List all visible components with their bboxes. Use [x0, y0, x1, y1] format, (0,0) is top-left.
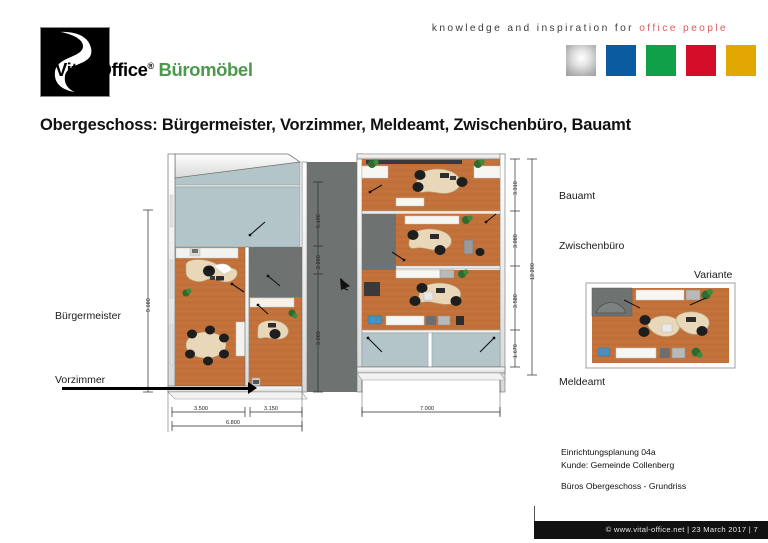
- label-variante: Variante: [694, 269, 732, 281]
- dim-corridor-2: 2.200: [316, 255, 322, 269]
- room-empty-lower-right: [362, 333, 500, 367]
- dim-bottom-3500: 3.500: [194, 406, 208, 412]
- dim-bottom-7000: 7.000: [420, 406, 434, 412]
- dim-corridor-1: 5.190: [316, 214, 322, 228]
- brand-swatch-row: [566, 45, 756, 76]
- logo-word-bueromoebel: Büromöbel: [159, 59, 253, 80]
- dim-bottom-total: 6.800: [226, 420, 240, 426]
- swatch-silver: [566, 45, 596, 76]
- dim-zwischenbuero: 3.080: [513, 234, 519, 248]
- label-buergermeister: Bürgermeister: [55, 310, 121, 322]
- dim-meldeamt: 3.580: [513, 294, 519, 308]
- floor-plan-drawing: Bürgermeister Vorzimmer Bauamt Zwischenb…: [0, 140, 768, 440]
- project-spacer: [561, 471, 686, 480]
- variante-plan: [586, 283, 735, 368]
- vorzimmer-pointer-line: [62, 387, 252, 390]
- footer-bar-text: © www.vital-office.net | 23 March 2017 |…: [606, 525, 758, 534]
- room-buergermeister: [175, 247, 245, 392]
- project-line-2: Kunde: Gemeinde Collenberg: [561, 459, 686, 472]
- swatch-blue: [606, 45, 636, 76]
- logo-word-vital-office: Vital-Office: [55, 59, 148, 80]
- room-bauamt: [362, 159, 500, 211]
- project-line-3: Büros Obergeschoss - Grundriss: [561, 480, 686, 493]
- swatch-gold: [726, 45, 756, 76]
- tagline-primary: knowledge and inspiration for: [432, 23, 639, 34]
- footer-bar: © www.vital-office.net | 23 March 2017 |…: [534, 521, 768, 539]
- room-meldeamt: [362, 269, 500, 330]
- dim-corridor-3: 3.000: [316, 331, 322, 345]
- label-meldeamt: Meldeamt: [559, 376, 605, 388]
- label-vorzimmer: Vorzimmer: [55, 374, 105, 386]
- logo-registered-mark: ®: [148, 61, 154, 71]
- room-vorzimmer: [249, 247, 302, 392]
- swatch-green: [646, 45, 676, 76]
- header-tagline: knowledge and inspiration for office peo…: [398, 23, 728, 34]
- dim-bottom-3150: 3.150: [264, 406, 278, 412]
- footer-tick-mark: [534, 506, 535, 522]
- project-info-block: Einrichtungsplanung 04a Kunde: Gemeinde …: [561, 446, 686, 493]
- logo-wordmark: Vital-Office® Büromöbel: [55, 59, 253, 81]
- vorzimmer-pointer-arrow: [248, 382, 257, 394]
- floor-plan-svg: [0, 140, 768, 440]
- dim-lower-strip: 1.670: [513, 344, 519, 358]
- corridor: [307, 162, 357, 392]
- dim-left-total: 9.680: [146, 298, 152, 312]
- room-zwischenbuero: [362, 214, 500, 270]
- label-zwischenbuero: Zwischenbüro: [559, 240, 624, 252]
- tagline-accent: office people: [639, 23, 728, 34]
- room-empty-upper-left: [175, 154, 300, 247]
- page-title: Obergeschoss: Bürgermeister, Vorzimmer, …: [40, 116, 631, 135]
- page-root: Vital-Office® Büromöbel knowledge and in…: [0, 0, 768, 543]
- swatch-red: [686, 45, 716, 76]
- dim-right-total: 12.200: [530, 263, 536, 280]
- project-line-1: Einrichtungsplanung 04a: [561, 446, 686, 459]
- dim-bauamt: 3.310: [513, 181, 519, 195]
- label-bauamt: Bauamt: [559, 190, 595, 202]
- page-header: Vital-Office® Büromöbel knowledge and in…: [0, 0, 768, 108]
